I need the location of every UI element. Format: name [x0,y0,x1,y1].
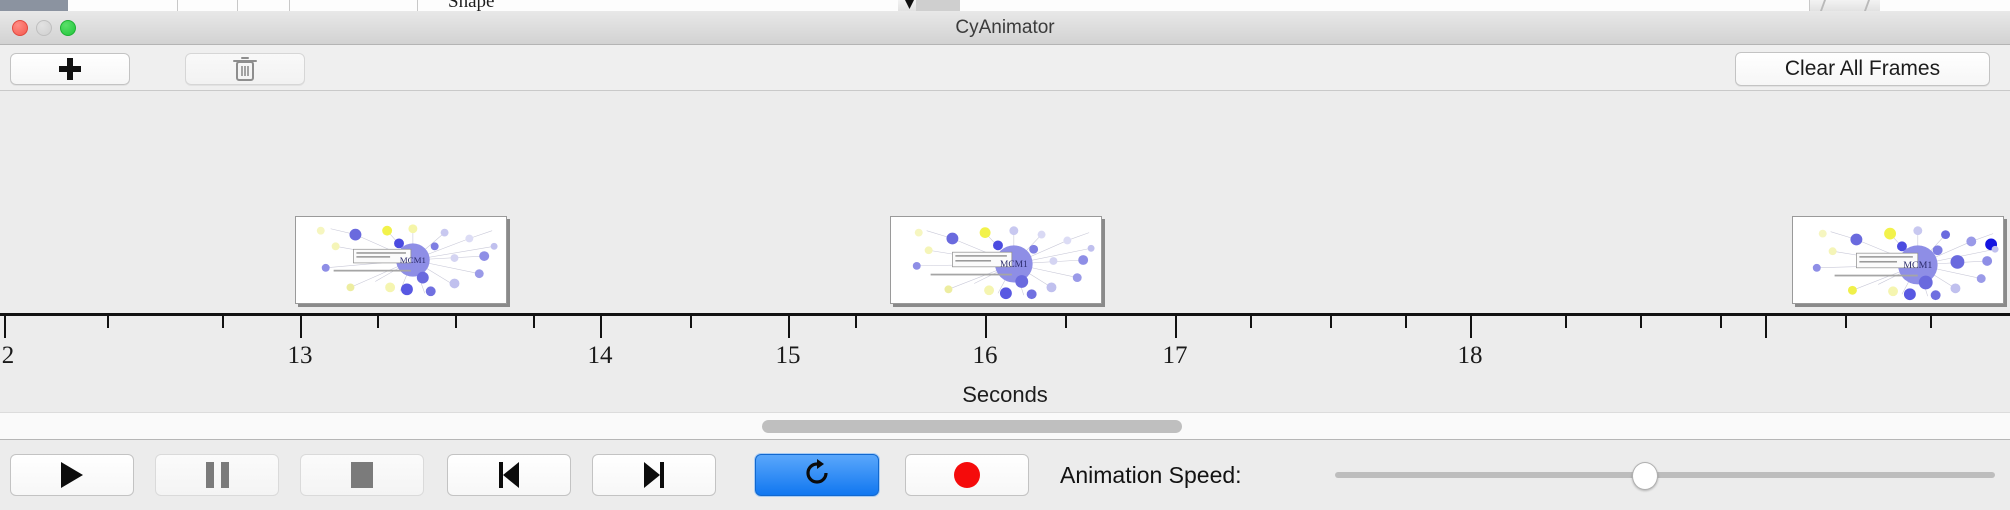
timeline-scrollbar-thumb[interactable] [762,420,1182,433]
svg-text:MCM1: MCM1 [1903,260,1932,271]
play-button[interactable] [10,454,134,496]
axis-tick-major [788,316,790,338]
axis-tick-major [1175,316,1177,338]
background-window-caret-icon [905,0,914,9]
background-window-divider [1864,0,1870,11]
zoom-button[interactable] [60,20,76,36]
axis-tick-minor [377,316,379,328]
timeline-scrollbar[interactable] [0,412,2010,439]
stop-icon [351,462,373,488]
background-window-segment [178,0,238,11]
title-bar: CyAnimator [0,11,2010,45]
background-window-label: Shape [448,0,494,11]
axis-tick-major [300,316,302,338]
toolbar: Clear All Frames [0,45,2010,91]
axis-tick-minor [1330,316,1332,328]
svg-text:MCM1: MCM1 [1000,260,1028,270]
frame-thumbnail[interactable]: MCM1 [890,216,1102,304]
axis-tick-label: 13 [288,342,313,370]
trash-icon [233,56,257,82]
traffic-light-group [12,20,76,36]
axis-tick-minor [1565,316,1567,328]
background-window-segment [960,0,1810,11]
slider-thumb[interactable] [1632,462,1658,490]
axis-tick-label: 18 [1458,342,1483,370]
background-window-segment [68,0,178,11]
background-window-divider [1820,0,1826,11]
axis-tick-label: 2 [2,342,15,370]
axis-tick-minor [1845,316,1847,328]
axis-tick-major [985,316,987,338]
minimize-button[interactable] [36,20,52,36]
skip-back-icon [499,462,519,488]
axis-tick-major [600,316,602,338]
record-icon [954,462,980,488]
axis-tick-major [4,316,6,338]
playback-control-bar: Animation Speed: [0,439,2010,510]
axis-tick-minor [533,316,535,328]
axis-tick-minor [690,316,692,328]
loop-icon [802,458,832,493]
plus-icon [59,58,81,80]
axis-tick-label: 15 [776,342,801,370]
axis-tick-minor [222,316,224,328]
axis-tick-minor [1640,316,1642,328]
axis-tick-label: 16 [973,342,998,370]
axis-tick-minor [1405,316,1407,328]
axis-tick-major [1765,316,1767,338]
axis-tick-minor [455,316,457,328]
axis-tick-label: 17 [1163,342,1188,370]
animation-speed-label: Animation Speed: [1060,454,1242,496]
skip-to-end-button[interactable] [592,454,716,496]
pause-button[interactable] [155,454,279,496]
add-frame-button[interactable] [10,53,130,85]
axis-tick-minor [1720,316,1722,328]
background-window-grip [916,0,960,11]
background-window-segment [1880,0,2010,11]
axis-tick-minor [1250,316,1252,328]
frame-thumbnail[interactable]: MCM1 [295,216,507,304]
axis-tick-label: 14 [588,342,613,370]
timeline-panel[interactable]: MCM1 [0,92,2010,412]
axis-tick-minor [1065,316,1067,328]
axis-caption: Seconds [0,382,2010,408]
axis-tick-minor [855,316,857,328]
background-window-segment [238,0,290,11]
axis-tick-minor [107,316,109,328]
background-window-strip: Shape [0,0,2010,11]
stop-button[interactable] [300,454,424,496]
skip-forward-icon [644,462,664,488]
window-title: CyAnimator [0,11,2010,45]
animation-speed-slider[interactable] [1335,454,1995,496]
pause-icon [206,462,229,488]
play-icon [61,462,83,488]
clear-all-frames-button[interactable]: Clear All Frames [1735,52,1990,86]
svg-text:MCM1: MCM1 [400,255,426,265]
background-window-segment [290,0,418,11]
skip-to-start-button[interactable] [447,454,571,496]
axis-tick-minor [1930,316,1932,328]
record-button[interactable] [905,454,1029,496]
delete-frame-button[interactable] [185,53,305,85]
close-button[interactable] [12,20,28,36]
axis-tick-major [1470,316,1472,338]
cyanimator-window: Shape CyAnimator [0,0,2010,510]
background-window-titlebar-chip [0,0,68,11]
frame-thumbnail[interactable]: MCM1 [1792,216,2004,304]
loop-button[interactable] [755,454,879,496]
slider-track[interactable] [1335,472,1995,478]
